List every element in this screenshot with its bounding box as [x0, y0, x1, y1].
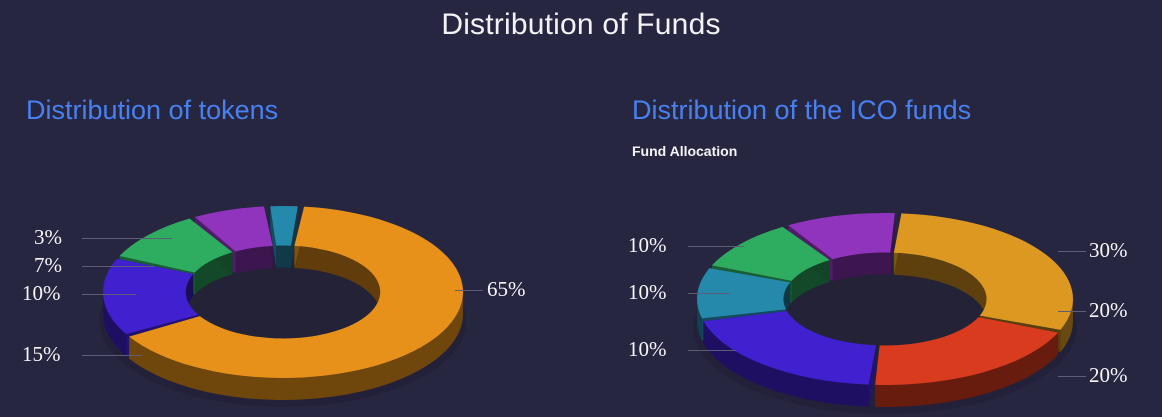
tokens-leader-line [82, 294, 136, 295]
tokens-donut-slice-side [276, 246, 291, 268]
ico-leader-line [688, 246, 744, 247]
ico-donut-group [693, 213, 1077, 414]
ico-data-label: 10% [628, 235, 667, 256]
chart-page: Distribution of Funds Distribution of to… [0, 0, 1162, 417]
tokens-data-label: 15% [22, 344, 61, 365]
ico-data-label: 20% [1089, 300, 1128, 321]
tokens-data-label: 7% [34, 255, 62, 276]
tokens-leader-line [82, 238, 172, 239]
tokens-data-label: 65% [487, 279, 526, 300]
ico-leader-line [1058, 251, 1086, 252]
ico-data-label: 10% [628, 339, 667, 360]
tokens-data-label: 3% [34, 227, 62, 248]
ico-data-label: 30% [1089, 240, 1128, 261]
tokens-donut-group [99, 206, 466, 407]
tokens-leader-line [82, 355, 142, 356]
tokens-leader-line [455, 290, 483, 291]
ico-leader-line [688, 350, 736, 351]
ico-leader-line [1058, 311, 1086, 312]
tokens-data-label: 10% [22, 283, 61, 304]
ico-leader-line [1058, 376, 1086, 377]
donut-charts-canvas [0, 0, 1162, 417]
ico-leader-line [688, 293, 730, 294]
ico-data-label: 20% [1089, 365, 1128, 386]
tokens-leader-line [82, 266, 154, 267]
ico-data-label: 10% [628, 282, 667, 303]
